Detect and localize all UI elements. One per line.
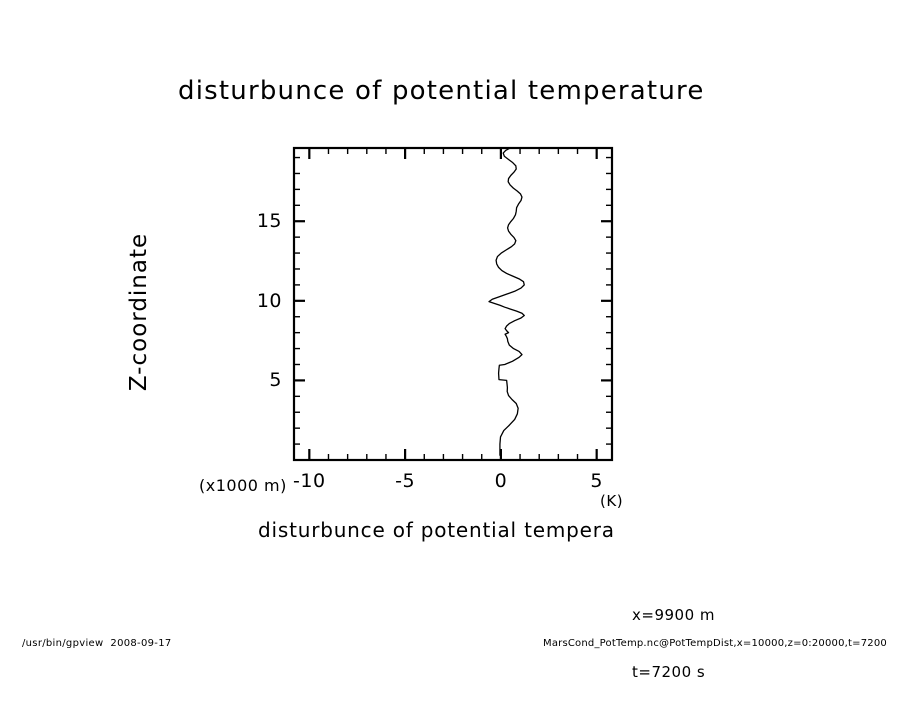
x-tick-label: -10: [293, 470, 326, 492]
y-tick-label: 10: [242, 290, 282, 312]
footer-command: /usr/bin/gpview 2008-09-17: [22, 638, 172, 649]
plot-canvas: disturbunce of potential temperature Z-c…: [0, 0, 904, 654]
tick-marks: [294, 148, 612, 460]
x-tick-label: -5: [395, 470, 415, 492]
plot-area: [0, 0, 904, 654]
x-tick-label: 5: [590, 470, 603, 492]
annotation-time: t=7200 s: [632, 663, 715, 682]
x-tick-label: 0: [495, 470, 508, 492]
y-tick-label: 5: [242, 369, 282, 391]
y-tick-label: 15: [242, 210, 282, 232]
annotation-x-position: x=9900 m: [632, 606, 715, 625]
data-curve: [489, 148, 524, 455]
data-curve-group: [489, 148, 524, 455]
plot-frame: [294, 148, 612, 460]
footer-source: MarsCond_PotTemp.nc@PotTempDist,x=10000,…: [543, 638, 887, 649]
axis-frame: [294, 148, 612, 460]
